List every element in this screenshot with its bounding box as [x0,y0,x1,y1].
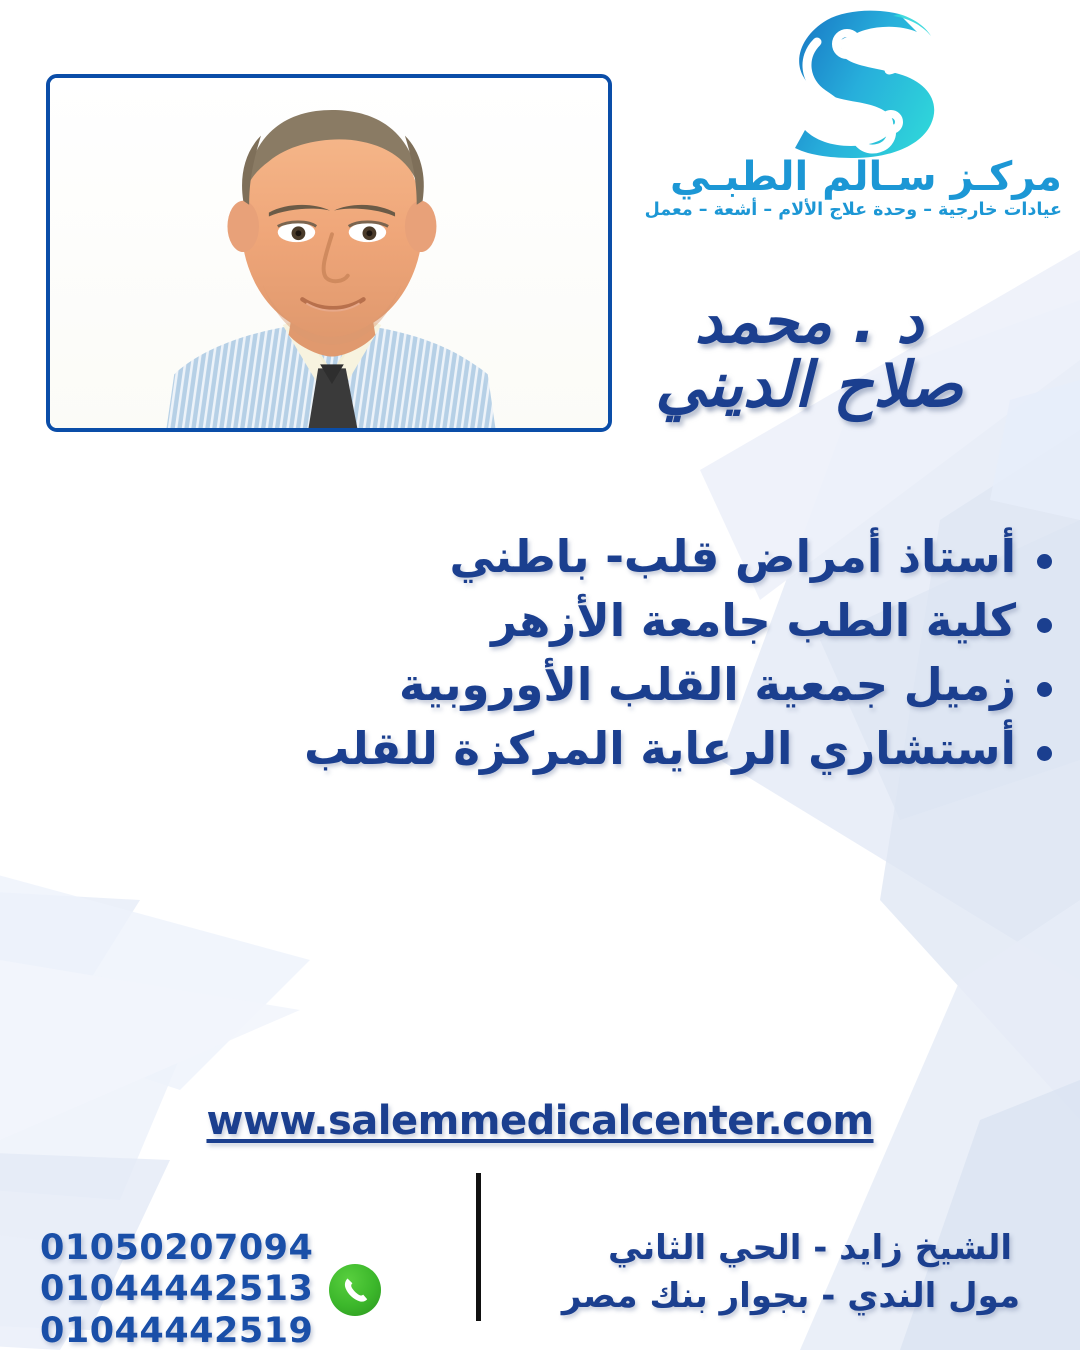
poster-canvas: مركـز سـالم الطبـي عيادات خارجية – وحدة … [0,0,1080,1350]
doctor-name: د . محمد صلاح الديني [574,292,1044,416]
website-link[interactable]: www.salemmedicalcenter.com [0,1098,1080,1144]
footer-divider [476,1173,481,1321]
credential-item: أستاذ أمراض قلب- باطني [50,528,1060,586]
address-block: الشيخ زايد - الحي الثاني مول الندي - بجو… [600,1224,1020,1321]
doctor-name-line-2: صلاح الديني [574,353,1044,416]
phone-number[interactable]: 01044442513 [40,1269,313,1310]
address-line-1: الشيخ زايد - الحي الثاني [600,1224,1020,1272]
credential-item: أستشاري الرعاية المركزة للقلب [50,720,1060,778]
address-line-2: مول الندي - بجوار بنك مصر [600,1272,1020,1320]
credentials-list: أستاذ أمراض قلب- باطني كلية الطب جامعة ا… [50,528,1060,784]
phone-number-list: 01050207094 01044442513 01044442519 [40,1228,313,1350]
credential-item: زميل جمعية القلب الأوروبية [50,656,1060,714]
phone-number[interactable]: 01044442519 [40,1311,313,1350]
brand-tagline: عيادات خارجية – وحدة علاج الألام – أشعة … [670,200,1062,220]
phone-handset-icon[interactable] [327,1262,383,1318]
phone-number[interactable]: 01050207094 [40,1228,313,1269]
doctor-name-line-1: د . محمد [574,292,1044,353]
credential-item: كلية الطب جامعة الأزهر [50,592,1060,650]
brand-name: مركـز سـالم الطبـي [670,156,1062,198]
phone-contact-block: 01050207094 01044442513 01044442519 [40,1228,383,1350]
doctor-portrait-frame [46,74,612,432]
website-url-text: www.salemmedicalcenter.com [206,1098,873,1144]
salem-s-stethoscope-logo [771,6,961,158]
brand-logo-block: مركـز سـالم الطبـي عيادات خارجية – وحدة … [670,6,1062,220]
doctor-portrait-image [50,78,608,428]
